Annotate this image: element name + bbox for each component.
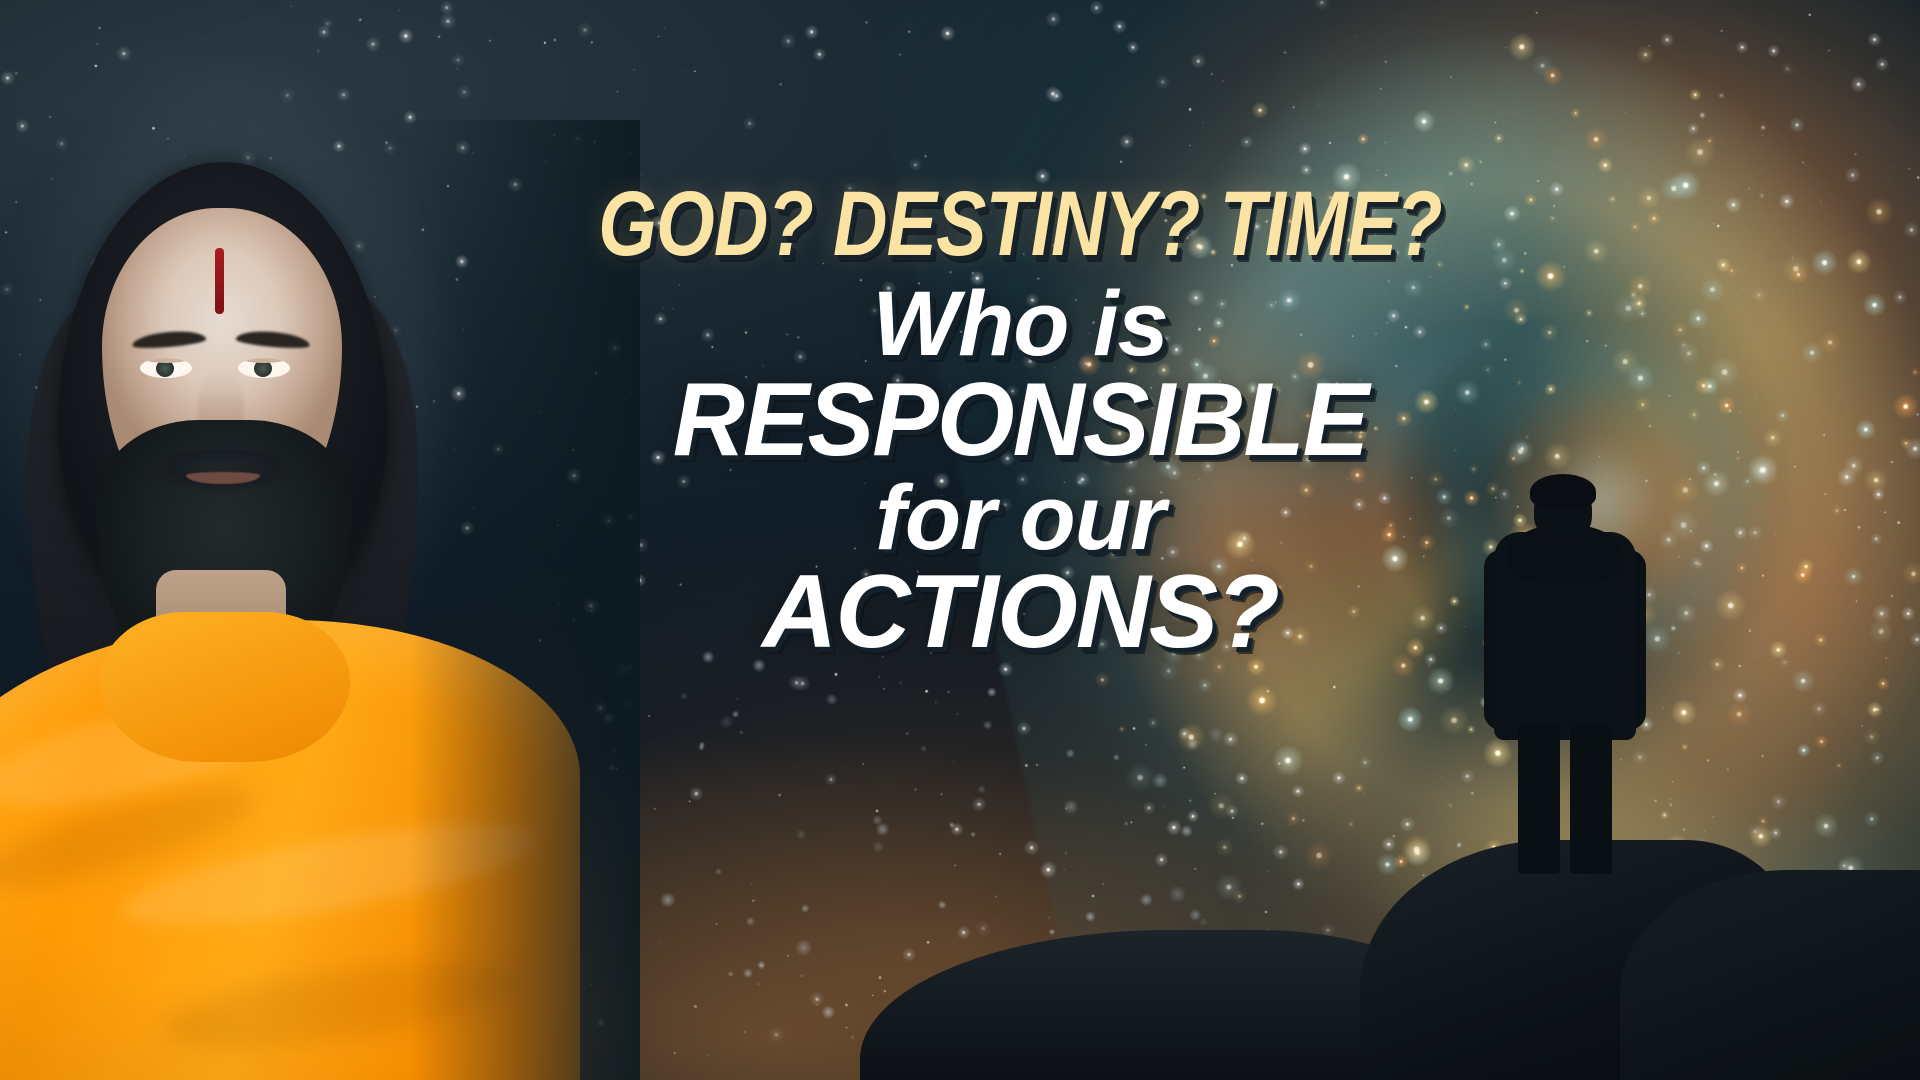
figure-leg-left bbox=[1518, 724, 1560, 874]
video-thumbnail: GOD? DESTINY? TIME? Who is RESPONSIBLE f… bbox=[0, 0, 1920, 1080]
robe-fold-shadow bbox=[157, 945, 523, 1064]
monk-portrait bbox=[0, 120, 600, 1080]
silhouette-figure bbox=[1460, 480, 1670, 880]
monk-mustache bbox=[148, 450, 298, 492]
monk-eyelid-left bbox=[140, 358, 192, 363]
monk-robe-collar bbox=[100, 612, 350, 762]
figure-leg-right bbox=[1570, 724, 1612, 874]
monk-eyelid-right bbox=[238, 358, 290, 363]
monk-eye-right bbox=[238, 358, 290, 378]
monk-eye-left bbox=[140, 358, 192, 378]
tilak-mark bbox=[215, 248, 224, 314]
figure-hair bbox=[1530, 474, 1596, 510]
